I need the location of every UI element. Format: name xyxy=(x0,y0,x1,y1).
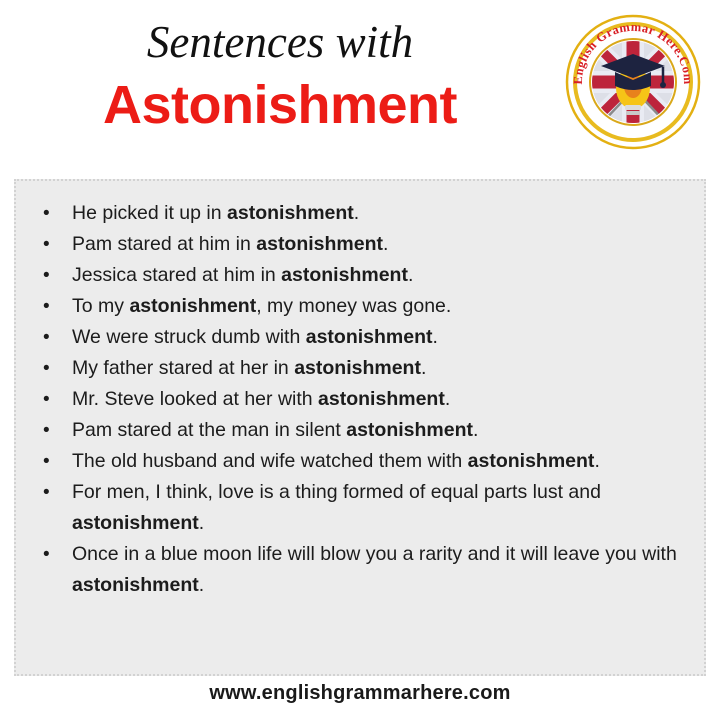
list-item: •The old husband and wife watched them w… xyxy=(30,446,690,477)
sentence-text: The old husband and wife watched them wi… xyxy=(72,450,600,472)
keyword-astonishment: astonishment xyxy=(281,264,408,286)
sentence-suffix: . xyxy=(354,202,359,224)
bullet-icon: • xyxy=(43,539,53,570)
list-item: •For men, I think, love is a thing forme… xyxy=(30,477,690,539)
bullet-icon: • xyxy=(43,477,53,508)
bullet-icon: • xyxy=(43,322,53,353)
sentence-suffix: . xyxy=(473,419,478,441)
sentence-text: We were struck dumb with astonishment. xyxy=(72,326,438,348)
sentence-prefix: My father stared at her in xyxy=(72,357,294,379)
keyword-astonishment: astonishment xyxy=(72,512,199,534)
sentence-prefix: He picked it up in xyxy=(72,202,227,224)
sentence-prefix: To my xyxy=(72,295,129,317)
keyword-astonishment: astonishment xyxy=(256,233,383,255)
sentence-suffix: . xyxy=(421,357,426,379)
bullet-icon: • xyxy=(43,384,53,415)
list-item: •Jessica stared at him in astonishment. xyxy=(30,260,690,291)
bullet-icon: • xyxy=(43,198,53,229)
keyword-astonishment: astonishment xyxy=(306,326,433,348)
sentence-prefix: We were struck dumb with xyxy=(72,326,306,348)
sentence-suffix: . xyxy=(433,326,438,348)
sentences-panel: •He picked it up in astonishment.•Pam st… xyxy=(14,179,706,676)
keyword-astonishment: astonishment xyxy=(72,574,199,596)
sentence-text: Pam stared at the man in silent astonish… xyxy=(72,419,478,441)
sentence-suffix: . xyxy=(199,574,204,596)
sentence-suffix: . xyxy=(594,450,599,472)
english-grammar-here-logo[interactable]: English Grammar Here.Com xyxy=(563,12,703,152)
page-title-line-1: Sentences with xyxy=(0,14,560,70)
poster-header: Sentences with Astonishment English Gram… xyxy=(0,0,720,172)
bullet-icon: • xyxy=(43,446,53,477)
sentence-suffix: . xyxy=(383,233,388,255)
poster-page: Sentences with Astonishment English Gram… xyxy=(0,0,720,720)
sentence-text: My father stared at her in astonishment. xyxy=(72,357,426,379)
list-item: •Pam stared at him in astonishment. xyxy=(30,229,690,260)
page-title-line-2: Astonishment xyxy=(0,72,560,138)
list-item: •To my astonishment, my money was gone. xyxy=(30,291,690,322)
sentence-text: Pam stared at him in astonishment. xyxy=(72,233,388,255)
list-item: •Mr. Steve looked at her with astonishme… xyxy=(30,384,690,415)
keyword-astonishment: astonishment xyxy=(318,388,445,410)
bullet-icon: • xyxy=(43,260,53,291)
list-item: •Once in a blue moon life will blow you … xyxy=(30,539,690,601)
keyword-astonishment: astonishment xyxy=(468,450,595,472)
bullet-icon: • xyxy=(43,415,53,446)
sentence-suffix: . xyxy=(199,512,204,534)
sentence-prefix: Once in a blue moon life will blow you a… xyxy=(72,543,677,565)
sentence-text: For men, I think, love is a thing formed… xyxy=(72,481,601,534)
keyword-astonishment: astonishment xyxy=(294,357,421,379)
keyword-astonishment: astonishment xyxy=(346,419,473,441)
keyword-astonishment: astonishment xyxy=(129,295,256,317)
bullet-icon: • xyxy=(43,229,53,260)
sentence-text: He picked it up in astonishment. xyxy=(72,202,359,224)
keyword-astonishment: astonishment xyxy=(227,202,354,224)
sentence-prefix: For men, I think, love is a thing formed… xyxy=(72,481,601,503)
sentence-text: Jessica stared at him in astonishment. xyxy=(72,264,413,286)
bullet-icon: • xyxy=(43,291,53,322)
sentence-suffix: . xyxy=(408,264,413,286)
footer-website[interactable]: www.englishgrammarhere.com xyxy=(0,680,720,706)
sentence-suffix: , my money was gone. xyxy=(256,295,451,317)
list-item: •He picked it up in astonishment. xyxy=(30,198,690,229)
logo-badge-icon: English Grammar Here.Com xyxy=(563,12,703,152)
sentence-prefix: The old husband and wife watched them wi… xyxy=(72,450,468,472)
sentence-suffix: . xyxy=(445,388,450,410)
sentence-text: Once in a blue moon life will blow you a… xyxy=(72,543,677,596)
sentence-text: Mr. Steve looked at her with astonishmen… xyxy=(72,388,450,410)
list-item: •My father stared at her in astonishment… xyxy=(30,353,690,384)
sentence-prefix: Pam stared at him in xyxy=(72,233,256,255)
sentence-text: To my astonishment, my money was gone. xyxy=(72,295,451,317)
sentence-list: •He picked it up in astonishment.•Pam st… xyxy=(30,198,690,601)
sentence-prefix: Jessica stared at him in xyxy=(72,264,281,286)
list-item: •Pam stared at the man in silent astonis… xyxy=(30,415,690,446)
bullet-icon: • xyxy=(43,353,53,384)
list-item: •We were struck dumb with astonishment. xyxy=(30,322,690,353)
sentence-prefix: Pam stared at the man in silent xyxy=(72,419,346,441)
sentence-prefix: Mr. Steve looked at her with xyxy=(72,388,318,410)
title-block: Sentences with Astonishment xyxy=(0,14,560,138)
